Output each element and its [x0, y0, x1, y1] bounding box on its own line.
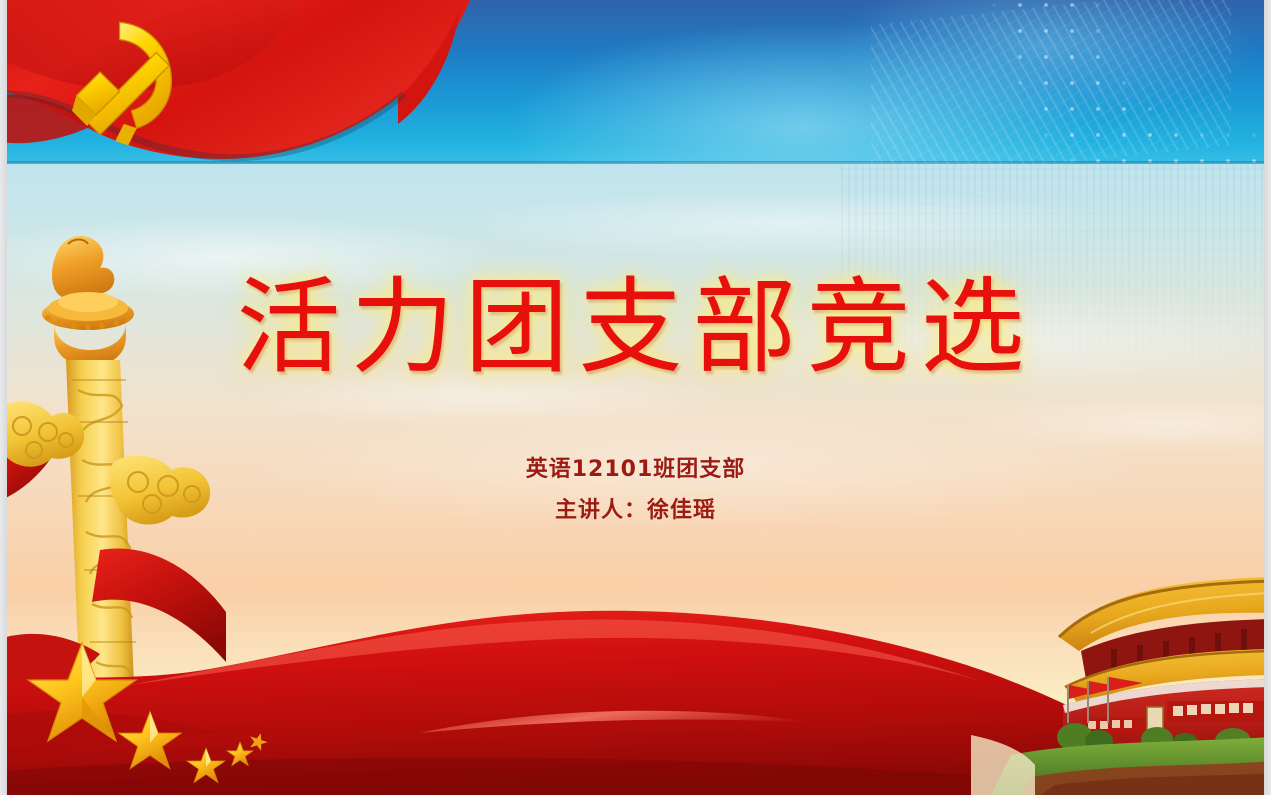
- red-flag-banner: [0, 0, 700, 164]
- page-title: 活力团支部竞选: [0, 272, 1271, 382]
- dot-arc-pattern-icon: [981, 0, 1271, 164]
- subtitle-presenter: 主讲人：徐佳瑶: [0, 491, 1271, 532]
- presentation-slide: 活力团支部竞选 英语12101班团支部 主讲人：徐佳瑶: [0, 0, 1271, 795]
- tiananmen-gate-icon: [971, 565, 1271, 795]
- title-block: 活力团支部竞选: [0, 272, 1271, 382]
- subtitle-organization: 英语12101班团支部: [0, 450, 1271, 491]
- five-gold-stars-icon: [10, 635, 340, 795]
- subtitle-block: 英语12101班团支部 主讲人：徐佳瑶: [0, 450, 1271, 531]
